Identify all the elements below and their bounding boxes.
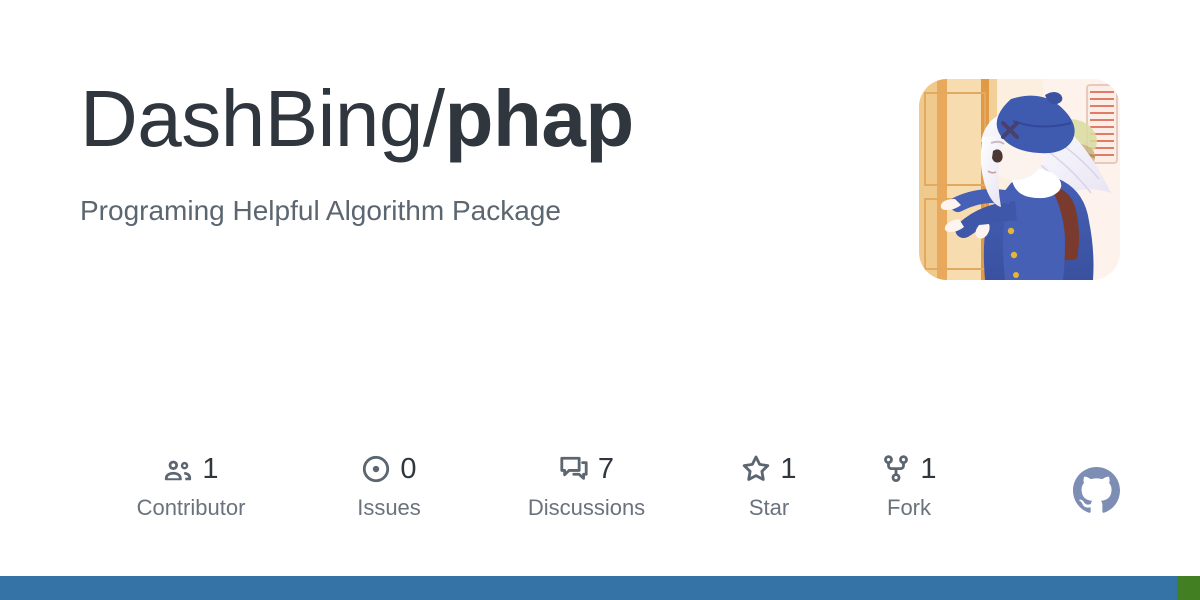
comment-discussion-icon — [559, 454, 589, 484]
repository-stats: 1 Contributor 0 Issues — [78, 452, 979, 519]
stat-issues-top: 0 — [361, 452, 416, 486]
language-segment-primary — [0, 576, 1177, 600]
stat-star-label: Star — [749, 497, 789, 519]
language-segment-secondary — [1177, 576, 1200, 600]
stat-issues-label: Issues — [357, 497, 421, 519]
repository-social-preview-card: DashBing/phap Programing Helpful Algorit… — [0, 0, 1200, 600]
repository-description: Programing Helpful Algorithm Package — [80, 159, 880, 228]
repository-name[interactable]: phap — [445, 74, 634, 163]
stat-discussions-value: 7 — [598, 455, 614, 484]
repository-header: DashBing/phap Programing Helpful Algorit… — [80, 79, 880, 228]
stat-discussions-label: Discussions — [528, 497, 645, 519]
stat-star[interactable]: 1 Star — [699, 452, 839, 519]
stat-star-value: 1 — [780, 455, 796, 484]
stat-fork[interactable]: 1 Fork — [839, 452, 979, 519]
stat-fork-value: 1 — [920, 455, 936, 484]
star-icon — [741, 454, 771, 484]
stat-fork-label: Fork — [887, 497, 931, 519]
stat-star-top: 1 — [741, 452, 796, 486]
repo-forked-icon — [881, 454, 911, 484]
stat-issues[interactable]: 0 Issues — [304, 452, 474, 519]
stat-fork-top: 1 — [881, 452, 936, 486]
stat-contributor[interactable]: 1 Contributor — [78, 452, 304, 519]
repository-separator: / — [423, 74, 445, 163]
github-mark-icon — [1073, 467, 1120, 514]
people-icon — [163, 454, 193, 484]
stat-contributor-top: 1 — [163, 452, 218, 486]
stat-contributor-value: 1 — [202, 455, 218, 484]
page-title: DashBing/phap — [80, 79, 880, 159]
language-bar — [0, 576, 1200, 600]
stat-contributor-label: Contributor — [137, 497, 246, 519]
stat-issues-value: 0 — [400, 455, 416, 484]
repository-owner[interactable]: DashBing — [80, 74, 423, 163]
issue-opened-icon — [361, 454, 391, 484]
stat-discussions[interactable]: 7 Discussions — [474, 452, 699, 519]
avatar — [919, 79, 1120, 280]
stat-discussions-top: 7 — [559, 452, 614, 486]
